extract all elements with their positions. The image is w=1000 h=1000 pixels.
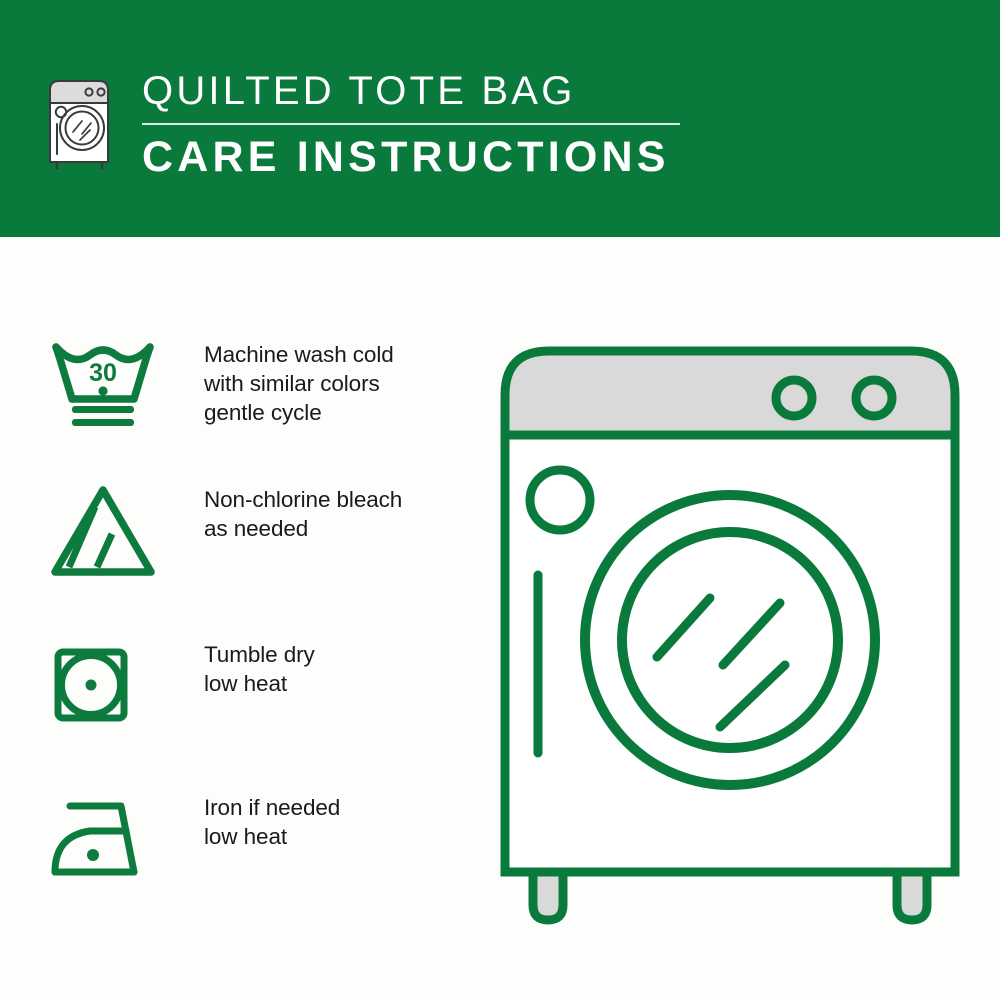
title-block: QUILTED TOTE BAG CARE INSTRUCTIONS bbox=[142, 68, 702, 182]
care-item-text: Non-chlorine bleach as needed bbox=[204, 482, 402, 543]
care-instructions-infographic: QUILTED TOTE BAG CARE INSTRUCTIONS 30 bbox=[0, 0, 1000, 1000]
title-divider bbox=[142, 123, 680, 125]
page-title: QUILTED TOTE BAG bbox=[142, 68, 702, 114]
foot-right bbox=[897, 872, 927, 920]
care-item-machine-wash: 30 Machine wash cold with similar colors… bbox=[0, 337, 470, 433]
foot-left bbox=[533, 872, 563, 920]
care-item-bleach: Non-chlorine bleach as needed bbox=[0, 482, 470, 578]
care-text-line: Machine wash cold bbox=[204, 340, 394, 369]
washing-machine-icon bbox=[44, 70, 116, 170]
care-text-line: Non-chlorine bleach bbox=[204, 485, 402, 514]
care-text-line: as needed bbox=[204, 514, 402, 543]
care-text-line: low heat bbox=[204, 669, 315, 698]
care-text-line: Iron if needed bbox=[204, 793, 340, 822]
care-text-line: gentle cycle bbox=[204, 398, 394, 427]
care-text-line: low heat bbox=[204, 822, 340, 851]
bleach-triangle-icon bbox=[48, 482, 158, 578]
care-instruction-list: 30 Machine wash cold with similar colors… bbox=[0, 237, 480, 1000]
care-text-line: with similar colors bbox=[204, 369, 394, 398]
care-item-text: Iron if needed low heat bbox=[204, 790, 340, 851]
care-item-iron: Iron if needed low heat bbox=[0, 790, 470, 886]
wash-tub-30-icon: 30 bbox=[48, 337, 158, 433]
header-banner: QUILTED TOTE BAG CARE INSTRUCTIONS bbox=[0, 0, 1000, 237]
care-text-line: Tumble dry bbox=[204, 640, 315, 669]
tumble-dry-low-icon bbox=[48, 637, 158, 733]
wash-temperature-label: 30 bbox=[89, 359, 117, 387]
care-item-text: Machine wash cold with similar colors ge… bbox=[204, 337, 394, 427]
iron-low-heat-icon bbox=[48, 790, 158, 886]
washing-machine-illustration bbox=[495, 335, 965, 925]
care-item-tumble-dry: Tumble dry low heat bbox=[0, 637, 470, 733]
page-subtitle: CARE INSTRUCTIONS bbox=[142, 132, 702, 182]
care-item-text: Tumble dry low heat bbox=[204, 637, 315, 698]
